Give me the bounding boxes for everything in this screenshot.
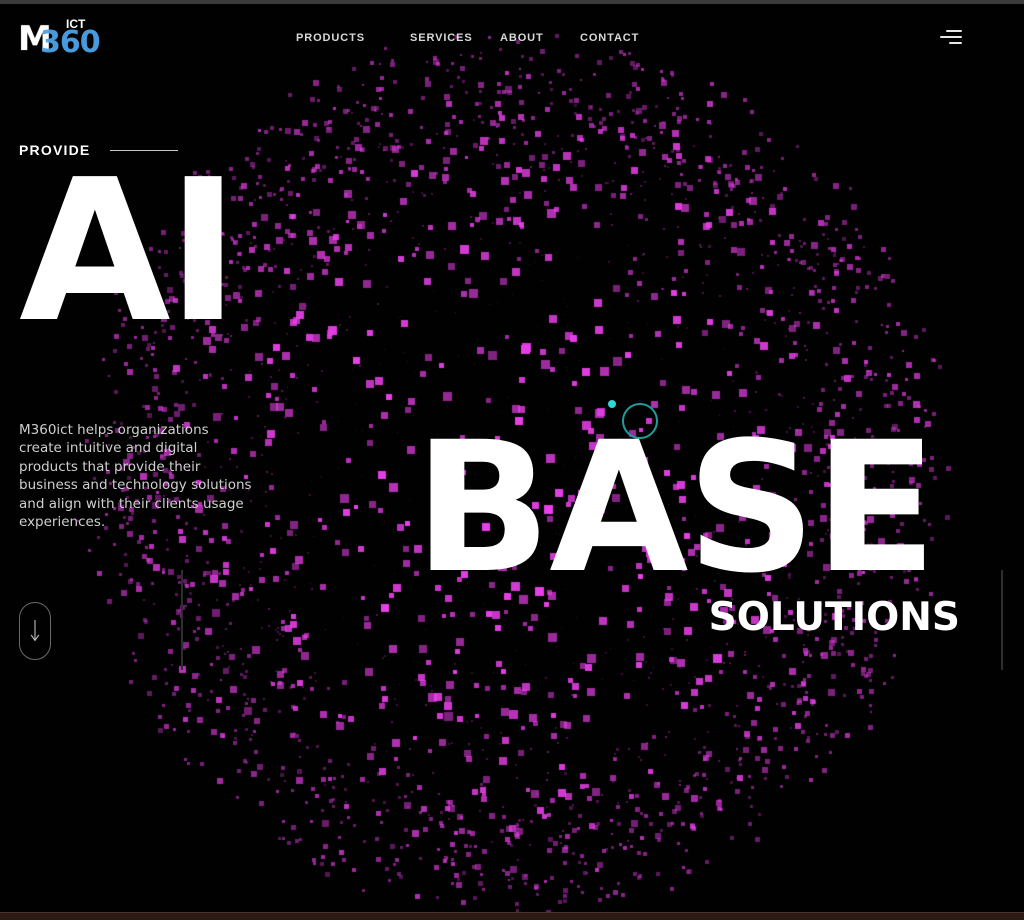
- hamburger-bar-top: [946, 30, 962, 32]
- logo-number: 360: [40, 28, 100, 58]
- hero-headline-primary: AI: [19, 168, 236, 337]
- nav-link-contact[interactable]: CONTACT: [580, 32, 660, 44]
- hero-paragraph: M360ict helps organizations create intui…: [19, 421, 255, 532]
- nav-link-about[interactable]: ABOUT: [500, 32, 580, 44]
- scroll-down-button[interactable]: [19, 602, 51, 660]
- logo-suffix: ICT: [66, 18, 85, 30]
- page-stage: M 360 ICT PRODUCTS SERVICES ABOUT CONTAC…: [0, 0, 1024, 920]
- hero-eyebrow: PROVIDE: [19, 142, 178, 158]
- nav-link-products[interactable]: PRODUCTS: [296, 32, 410, 44]
- arrow-down-icon: [28, 618, 42, 644]
- site-logo[interactable]: M 360 ICT: [18, 16, 104, 56]
- hamburger-menu-icon[interactable]: [940, 30, 962, 46]
- hero-headline-secondary: BASE: [414, 432, 935, 587]
- browser-top-strip: [0, 0, 1024, 4]
- site-header: M 360 ICT PRODUCTS SERVICES ABOUT CONTAC…: [0, 4, 1024, 70]
- hamburger-bar-middle: [940, 36, 962, 38]
- main-navigation: PRODUCTS SERVICES ABOUT CONTACT: [296, 32, 660, 44]
- browser-bottom-strip: [0, 912, 1024, 920]
- hamburger-bar-bottom: [949, 42, 962, 44]
- hero-eyebrow-label: PROVIDE: [19, 142, 90, 158]
- hero-eyebrow-rule: [110, 150, 178, 151]
- hero-headline-tertiary: SOLUTIONS: [420, 598, 960, 637]
- divider-vertical-right: [1001, 570, 1003, 670]
- nav-link-services[interactable]: SERVICES: [410, 32, 500, 44]
- divider-vertical-left: [181, 570, 183, 670]
